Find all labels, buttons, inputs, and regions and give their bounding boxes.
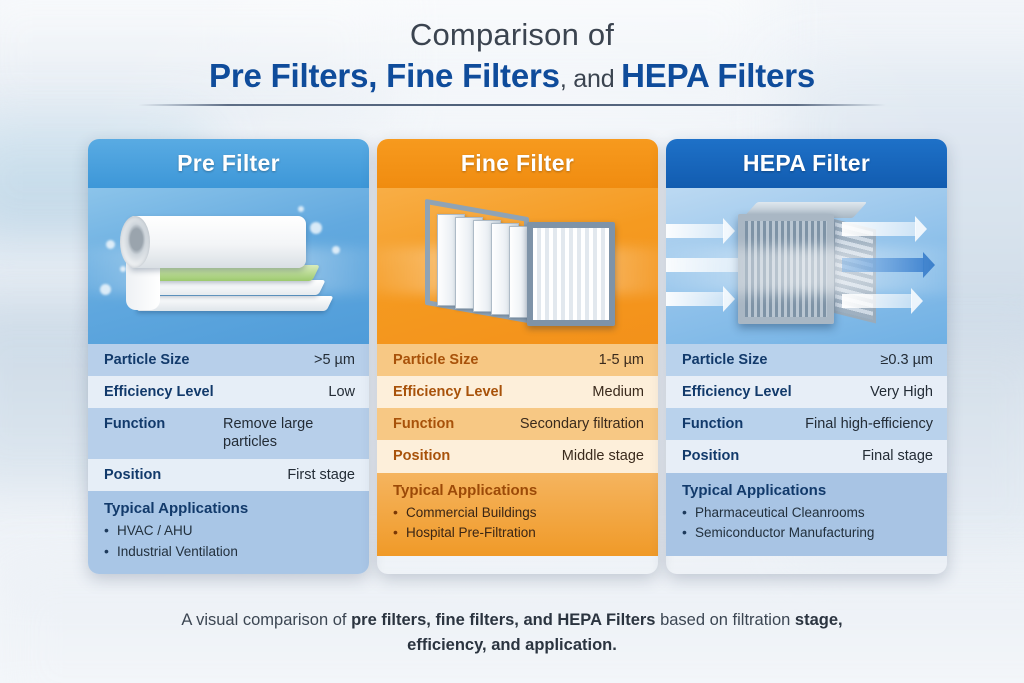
footer-text-part-1: A visual comparison of	[181, 611, 351, 629]
row-value-function: Final high-efficiency	[805, 415, 933, 433]
row-label-particle-size: Particle Size	[393, 351, 478, 369]
card-header-hepa-filter: HEPA Filter	[666, 139, 947, 188]
row-label-function: Function	[682, 415, 743, 433]
table-row-efficiency-level: Efficiency Level Low	[88, 376, 369, 408]
table-row-position: Position Final stage	[666, 440, 947, 472]
list-item: Pharmaceutical Cleanrooms	[682, 503, 933, 524]
row-label-position: Position	[104, 466, 161, 484]
table-row-efficiency-level: Efficiency Level Very High	[666, 376, 947, 408]
table-row-function: Function Final high-efficiency	[666, 408, 947, 440]
row-label-efficiency-level: Efficiency Level	[682, 383, 792, 401]
table-row-position: Position Middle stage	[377, 440, 658, 472]
row-label-function: Function	[393, 415, 454, 433]
card-pre-filter[interactable]: Pre Filter Pa	[88, 139, 369, 574]
haze-overlay	[666, 247, 947, 294]
card-hepa-filter[interactable]: HEPA Filter Particle Size	[666, 139, 947, 574]
particle-speck	[100, 284, 111, 295]
table-row-particle-size: Particle Size ≥0.3 µm	[666, 344, 947, 376]
row-label-position: Position	[682, 447, 739, 465]
airflow-arrow-outlet	[842, 294, 912, 308]
spec-table-pre-filter: Particle Size >5 µm Efficiency Level Low…	[88, 344, 369, 574]
footer-caption: A visual comparison of pre filters, fine…	[0, 608, 1024, 658]
row-value-position: Middle stage	[562, 447, 644, 465]
title-accent-secondary: HEPA Filters	[621, 57, 815, 94]
card-header-fine-filter: Fine Filter	[377, 139, 658, 188]
bag-filter-front-frame	[527, 222, 615, 326]
applications-list: HVAC / AHU Industrial Ventilation	[104, 521, 355, 563]
row-value-efficiency-level: Low	[328, 383, 355, 401]
table-row-particle-size: Particle Size 1-5 µm	[377, 344, 658, 376]
table-row-function: Function Remove large particles	[88, 408, 369, 458]
applications-title: Typical Applications	[104, 500, 355, 517]
row-label-particle-size: Particle Size	[104, 351, 189, 369]
row-value-position: First stage	[287, 466, 355, 484]
footer-bold-1: pre filters, fine filters, and HEPA Filt…	[351, 611, 655, 629]
particle-speck	[106, 240, 115, 249]
spec-table-hepa-filter: Particle Size ≥0.3 µm Efficiency Level V…	[666, 344, 947, 574]
table-row-function: Function Secondary filtration	[377, 408, 658, 440]
applications-section: Typical Applications HVAC / AHU Industri…	[88, 491, 369, 575]
row-value-particle-size: ≥0.3 µm	[880, 351, 933, 369]
comparison-cards-row: Pre Filter Pa	[88, 139, 948, 574]
row-value-position: Final stage	[862, 447, 933, 465]
list-item: HVAC / AHU	[104, 521, 355, 542]
white-media-sheet-bottom	[136, 296, 333, 311]
list-item: Semiconductor Manufacturing	[682, 523, 933, 544]
row-value-particle-size: 1-5 µm	[599, 351, 644, 369]
applications-title: Typical Applications	[682, 482, 933, 499]
airflow-arrow-outlet	[842, 222, 916, 236]
media-roll-body	[130, 216, 306, 268]
applications-section: Typical Applications Pharmaceutical Clea…	[666, 473, 947, 557]
row-label-function: Function	[104, 415, 165, 433]
row-value-particle-size: >5 µm	[314, 351, 355, 369]
title-underline-divider	[138, 104, 886, 106]
row-label-efficiency-level: Efficiency Level	[393, 383, 503, 401]
table-row-efficiency-level: Efficiency Level Medium	[377, 376, 658, 408]
list-item: Industrial Ventilation	[104, 542, 355, 563]
row-value-function: Remove large particles	[223, 415, 355, 451]
bag-filter-illustration	[419, 204, 624, 328]
list-item: Hospital Pre-Filtration	[393, 523, 644, 544]
fine-filter-bag-image	[377, 188, 658, 344]
row-value-function: Secondary filtration	[520, 415, 644, 433]
row-value-efficiency-level: Medium	[592, 383, 644, 401]
media-roll-end	[120, 216, 150, 268]
title-line-2: Pre Filters, Fine Filters, and HEPA Filt…	[0, 58, 1024, 95]
row-value-efficiency-level: Very High	[870, 383, 933, 401]
applications-list: Commercial Buildings Hospital Pre-Filtra…	[393, 503, 644, 545]
row-label-particle-size: Particle Size	[682, 351, 767, 369]
list-item: Commercial Buildings	[393, 503, 644, 524]
applications-list: Pharmaceutical Cleanrooms Semiconductor …	[682, 503, 933, 545]
applications-section: Typical Applications Commercial Building…	[377, 473, 658, 557]
title-accent-primary: Pre Filters, Fine Filters	[209, 57, 560, 94]
card-header-pre-filter: Pre Filter	[88, 139, 369, 188]
spec-table-fine-filter: Particle Size 1-5 µm Efficiency Level Me…	[377, 344, 658, 574]
applications-title: Typical Applications	[393, 482, 644, 499]
row-label-efficiency-level: Efficiency Level	[104, 383, 214, 401]
row-label-position: Position	[393, 447, 450, 465]
pre-filter-media-roll-image	[88, 188, 369, 344]
airflow-arrow-inlet	[666, 224, 724, 238]
infographic-page: Comparison of Pre Filters, Fine Filters,…	[0, 0, 1024, 683]
table-row-position: Position First stage	[88, 459, 369, 491]
title-conjunction: , and	[560, 65, 621, 93]
footer-text-part-2: based on filtration	[655, 611, 794, 629]
airflow-arrow-inlet	[666, 292, 724, 306]
page-title: Comparison of Pre Filters, Fine Filters,…	[0, 0, 1024, 106]
card-fine-filter[interactable]: Fine Filter Particle Size 1-5 µm	[377, 139, 658, 574]
table-row-particle-size: Particle Size >5 µm	[88, 344, 369, 376]
title-line-1: Comparison of	[0, 18, 1024, 52]
filter-media-illustration	[118, 210, 338, 322]
hepa-filter-airflow-image	[666, 188, 947, 344]
